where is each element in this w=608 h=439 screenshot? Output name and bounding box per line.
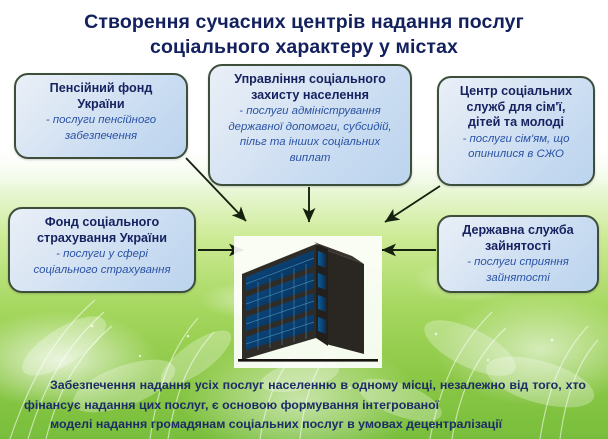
box-employment-heading-line1: Державна служба <box>446 223 590 239</box>
box-social-protection-service-line2: державної допомоги, субсидій, <box>217 120 403 135</box>
box-social-protection-department[interactable]: Управління соціального захисту населення… <box>208 64 412 186</box>
footer-paragraph-last-line: моделі надання громадянам соціальних пос… <box>24 415 586 435</box>
box-insurance-fund-service-line2: соціального страхування <box>17 263 187 278</box>
slide-canvas: Створення сучасних центрів надання послу… <box>0 0 608 439</box>
box-pension-fund-heading-line2: України <box>23 97 179 113</box>
box-insurance-fund-service-line1: - послуги у сфері <box>17 247 187 262</box>
box-social-protection-heading-line1: Управління соціального <box>217 72 403 88</box>
footer-paragraph: Забезпечення надання усіх послуг населен… <box>24 376 586 435</box>
box-family-children-youth-centre[interactable]: Центр соціальних служб для сім'ї, дітей … <box>437 76 595 186</box>
box-social-insurance-fund[interactable]: Фонд соціального страхування України - п… <box>8 207 196 293</box>
box-insurance-fund-heading-line1: Фонд соціального <box>17 215 187 231</box>
box-pension-fund[interactable]: Пенсійний фонд України - послуги пенсійн… <box>14 73 188 159</box>
box-social-protection-service-line3: пільг та інших соціальних <box>217 135 403 150</box>
footer-paragraph-text: Забезпечення надання усіх послуг населен… <box>24 378 586 412</box>
office-building-icon <box>228 220 388 370</box>
box-employment-service-line1: - послуги сприяння <box>446 255 590 270</box>
box-family-centre-heading-line3: дітей та молоді <box>446 115 586 131</box>
box-employment-heading-line2: зайнятості <box>446 239 590 255</box>
box-social-protection-heading-line2: захисту населення <box>217 88 403 104</box>
box-social-protection-service-line4: виплат <box>217 151 403 166</box>
box-insurance-fund-heading-line2: страхування України <box>17 231 187 247</box>
box-pension-fund-service-line2: забезпечення <box>23 129 179 144</box>
box-employment-service-line2: зайнятості <box>446 271 590 286</box>
box-family-centre-service-line2: опинилися в СЖО <box>446 147 586 162</box>
box-social-protection-service-line1: - послуги адміністрування <box>217 104 403 119</box>
arrow-family-centre-to-centre <box>385 186 440 222</box>
box-family-centre-service-line1: - послуги сім'ям, що <box>446 132 586 147</box>
box-family-centre-heading-line1: Центр соціальних <box>446 84 586 100</box>
box-state-employment-service[interactable]: Державна служба зайнятості - послуги спр… <box>437 215 599 293</box>
box-family-centre-heading-line2: служб для сім'ї, <box>446 100 586 116</box>
box-pension-fund-service-line1: - послуги пенсійного <box>23 113 179 128</box>
box-pension-fund-heading-line1: Пенсійний фонд <box>23 81 179 97</box>
